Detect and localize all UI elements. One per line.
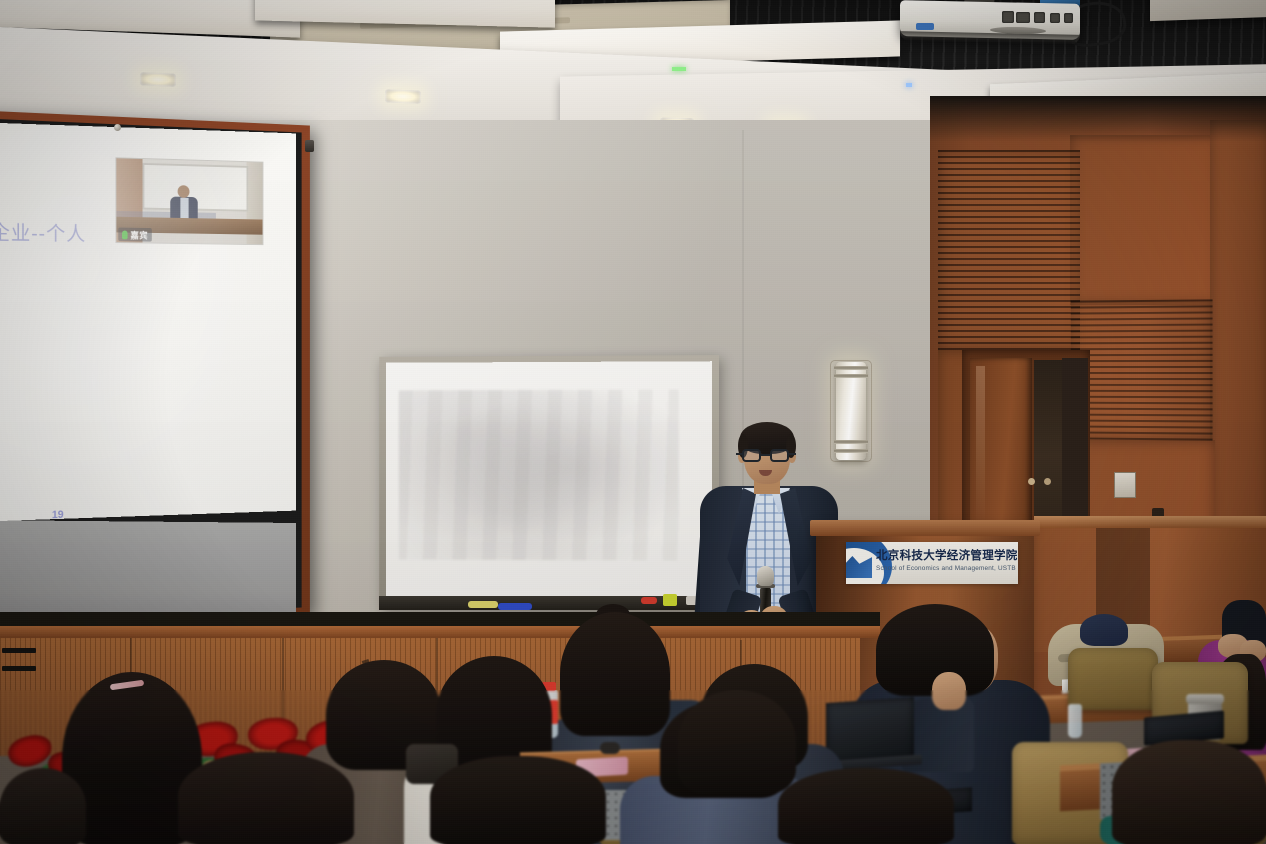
audience-member-hair [678,690,796,794]
pip-speaker-head [178,185,190,198]
water-bottle [1068,704,1082,738]
ceiling-led-blue [906,83,912,87]
slide-bullet-list: 括全球经济 高质量发展 核心技术 日与周边政经 无序与反垄断 思潮与独立思考 [0,291,284,522]
pip-participant-label: 嘉宾 [130,228,148,241]
screen-mount-bracket [305,140,314,152]
eyeglasses-icon [770,449,789,462]
projector-port [1034,12,1045,23]
wood-wall-top-shadow [930,96,1266,142]
coat-hood [1080,614,1128,646]
eyeglasses-bridge [761,454,770,456]
audience-member-hair [1112,740,1266,844]
presentation-slide: 新发展 大势--行业--企业--个人 括全球经济 高质量发展 核心技术 日与周边… [0,129,284,522]
recessed-downlight [140,72,176,86]
door-handle[interactable] [1044,478,1051,485]
thermos-lid [1186,694,1224,704]
whiteboard-erased-marks [399,390,679,561]
microphone-icon [757,566,774,586]
audience-member-hair [560,612,670,736]
ceiling-led-green [672,67,686,71]
side-counter-top [1034,516,1266,528]
lectern-top [810,520,1040,536]
small-desk-object [600,742,620,754]
audience-member-hair [178,752,354,844]
projector-port [1050,13,1060,23]
lecture-hall-photo: 新发展 大势--行业--企业--个人 括全球经济 高质量发展 核心技术 日与周边… [0,0,1266,844]
wall-vent-slot [2,648,36,653]
institution-sign: 北京科技大学经济管理学院 School of Economics and Man… [846,542,1018,584]
audience-hand-on-chin [932,672,966,710]
marker-red[interactable] [641,597,657,604]
projector-port [1016,12,1030,23]
video-conference-pip: 嘉宾 [116,158,262,244]
slide-bullet: 括全球经济 [0,291,284,319]
light-switch-plate[interactable] [1114,472,1136,498]
projector-port [1064,13,1073,23]
microphone-icon [122,230,128,239]
eyeglasses-temple [736,453,743,455]
projection-screen-unused-area [0,520,296,624]
wainscot-dark-reveal [0,612,880,626]
screen-mount-hook [114,124,121,131]
marker-yellow[interactable] [468,601,498,608]
slide-bullet: 日与周边政经 [0,441,284,478]
eyeglasses-temple [789,453,796,455]
projector-port [1002,11,1014,23]
wood-panel [1070,135,1220,305]
acoustic-slat-panel [1071,299,1213,440]
audience-member-hair [430,756,606,844]
institution-name-en: School of Economics and Management, USTB [876,565,1018,572]
sconce-band [834,366,868,370]
audience-member-hair [0,768,86,844]
door-handle[interactable] [1028,478,1035,485]
pip-participant-badge: 嘉宾 [118,227,152,241]
wainscot-cap-rail [0,624,880,638]
wall-vent-slot [2,666,36,671]
projection-screen-surface: 新发展 大势--行业--企业--个人 括全球经济 高质量发展 核心技术 日与周边… [0,122,296,522]
sconce-band [834,374,868,378]
recessed-downlight [385,89,421,103]
door-highlight [976,366,985,526]
projector-badge [916,23,934,30]
institution-name-cn: 北京科技大学经济管理学院 [876,547,1016,563]
slide-bullet: 高质量发展 [0,343,284,372]
acoustic-slat-panel [938,150,1080,350]
slide-bullet: 核心技术 [0,392,284,425]
audience-member-hair [778,768,954,844]
eyeglasses-icon [742,449,761,462]
marker-blue[interactable] [498,603,532,610]
marker-green[interactable] [663,594,677,606]
chair[interactable] [1068,648,1158,710]
